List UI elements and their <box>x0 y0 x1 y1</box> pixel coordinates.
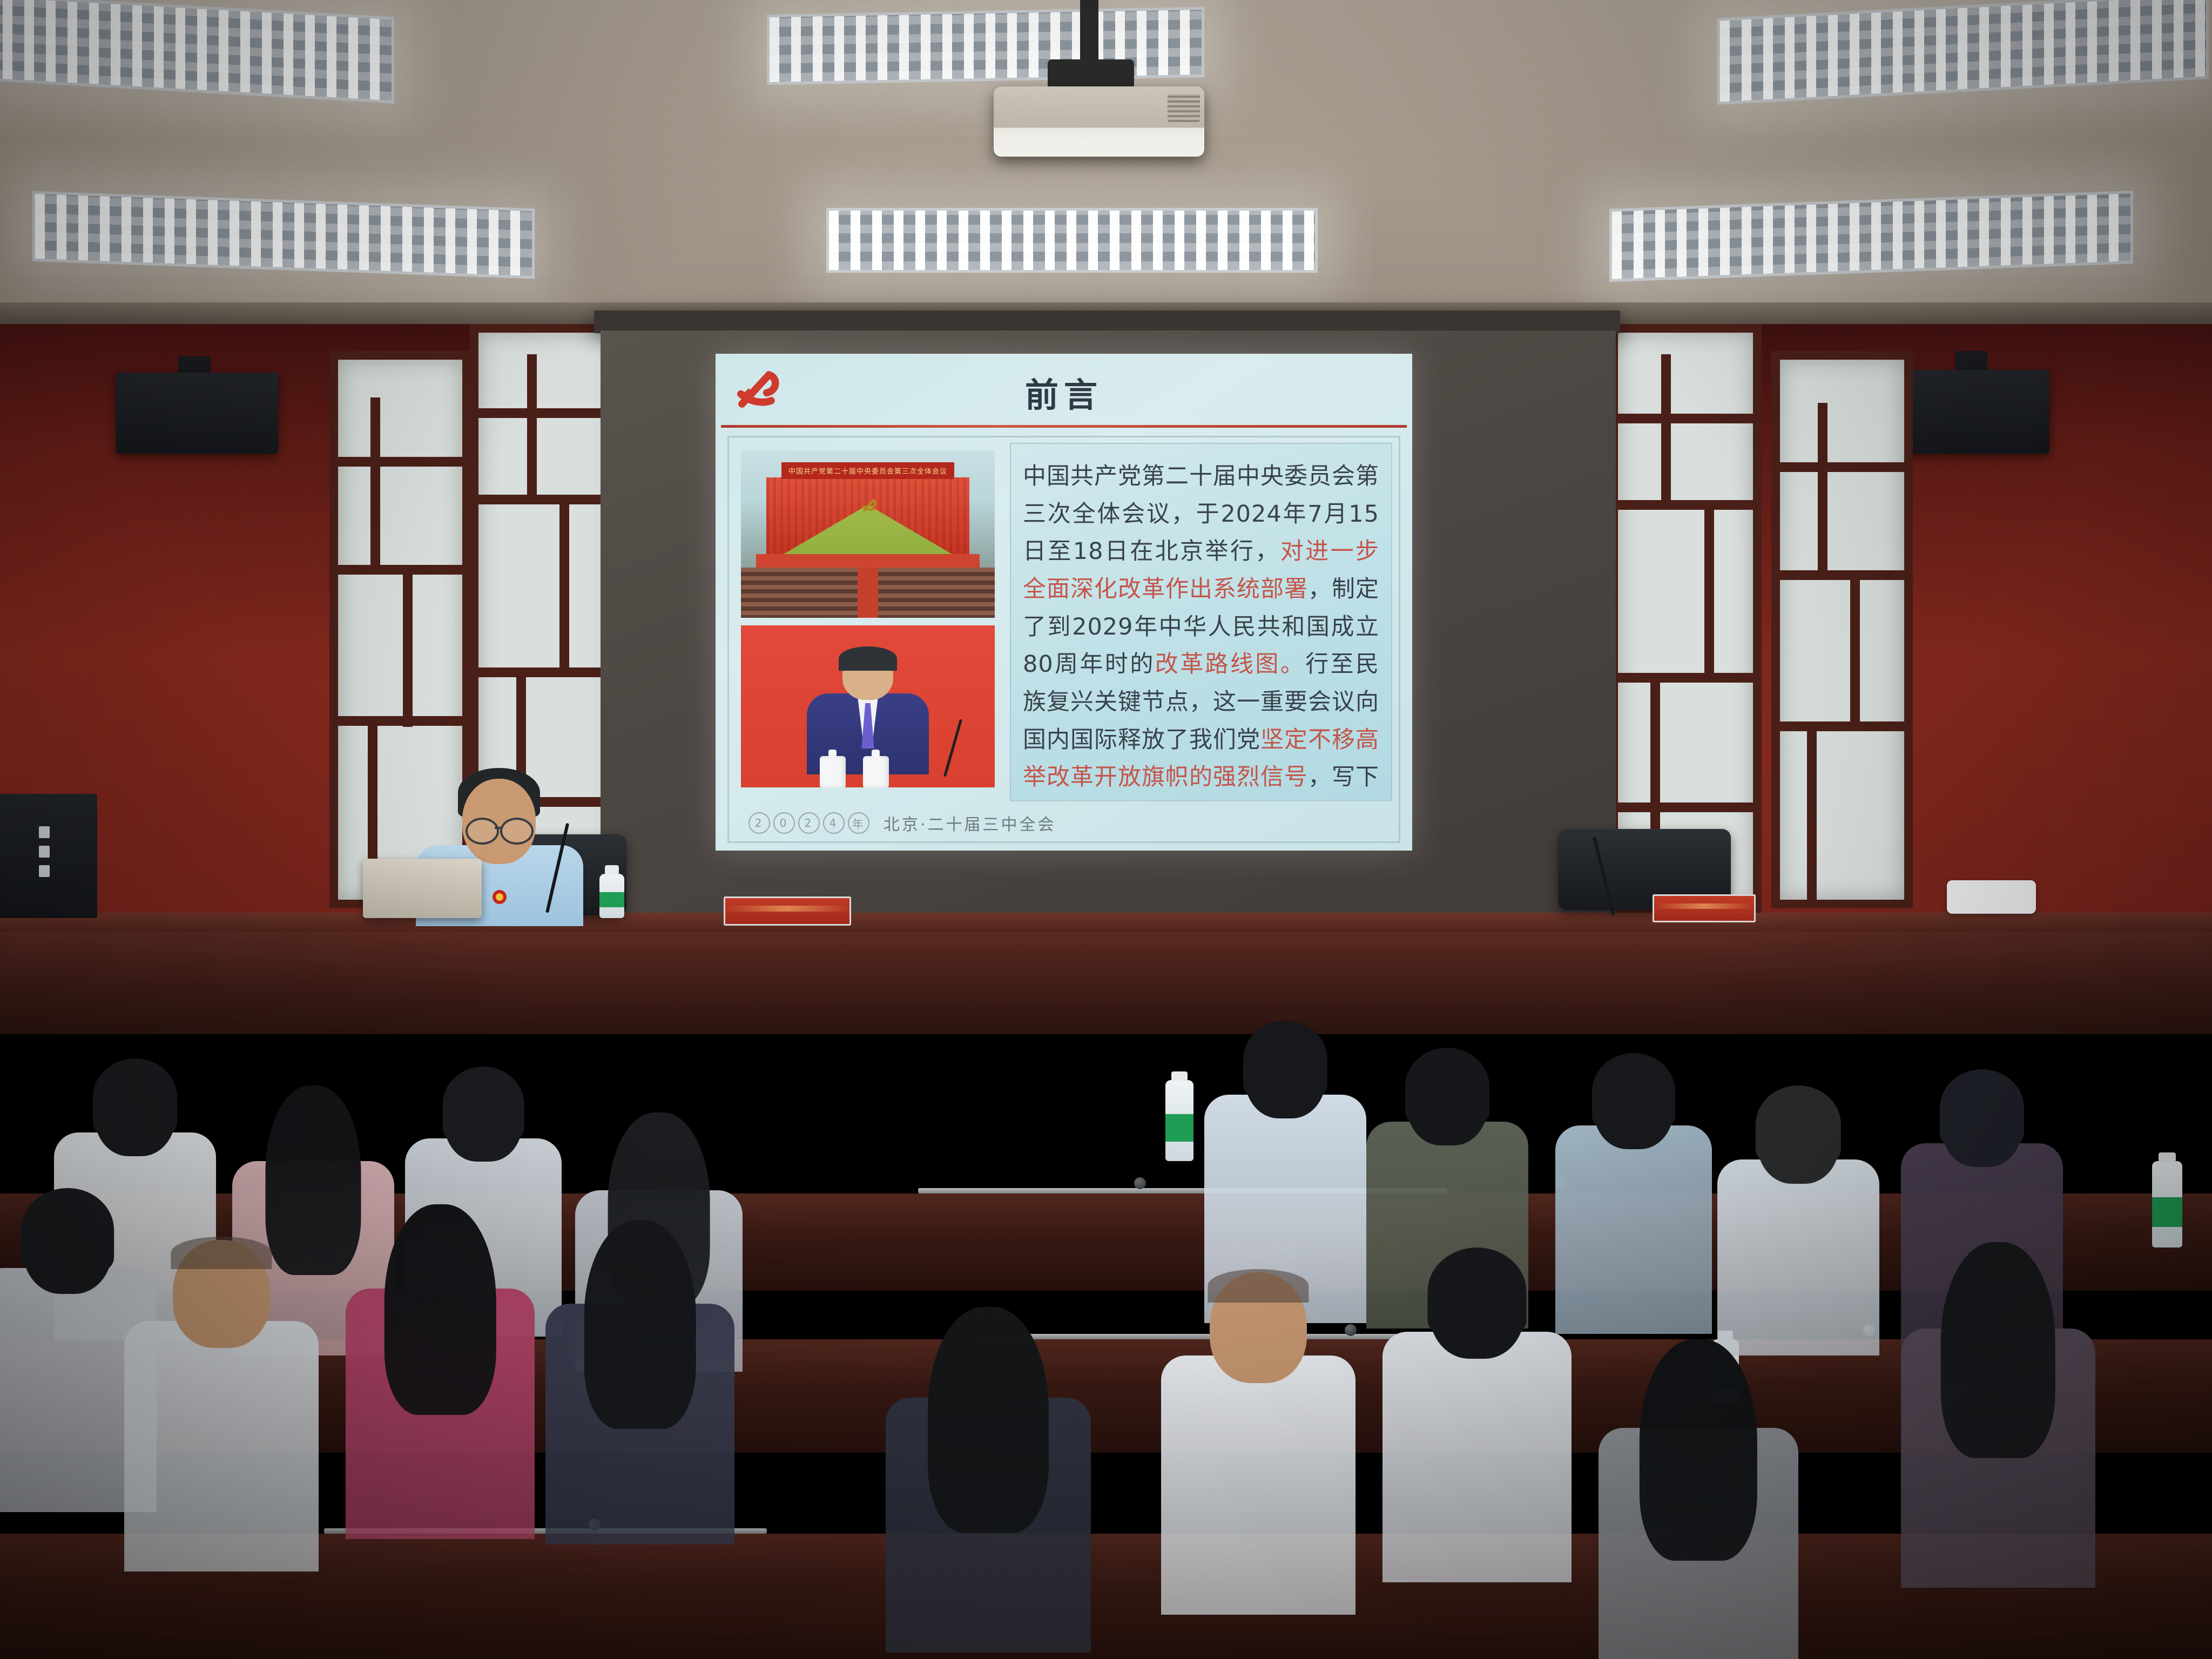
av-equipment-rack <box>0 794 97 918</box>
slide-title: 前言 <box>716 368 1412 416</box>
presenter-glasses-left <box>466 818 499 845</box>
audience-person-hair <box>928 1307 1049 1533</box>
plenum-banner-text: 中国共产党第二十届中央委员会第三次全体会议 <box>781 462 954 479</box>
audience-person <box>1555 1053 1712 1334</box>
audience-person-hair <box>1756 1085 1841 1163</box>
audience-person-hair <box>171 1237 272 1269</box>
audience-person-torso <box>124 1321 319 1572</box>
audience-person-torso <box>1382 1332 1572 1582</box>
wall-speaker-left <box>116 373 278 454</box>
leader-speaking-photo <box>741 625 995 787</box>
presenter-glasses-bridge <box>495 827 501 829</box>
audience-person-torso <box>1717 1159 1879 1355</box>
text-run-highlight: 改革路线图。 <box>1155 651 1305 678</box>
audience-person <box>1382 1247 1572 1582</box>
audience-person-hair <box>1941 1242 2055 1458</box>
caption-year-badges: 2 0 2 4 年 <box>748 812 869 834</box>
audience-person <box>545 1220 734 1545</box>
caption-digit: 0 <box>773 812 795 834</box>
audience-person <box>124 1237 319 1572</box>
audience-person <box>886 1307 1091 1653</box>
audience-person-hair <box>1405 1048 1489 1125</box>
front-desk <box>0 932 2212 1034</box>
ceiling-projector <box>994 86 1204 157</box>
audience-person <box>1161 1269 1355 1615</box>
audience-bench-row <box>0 1534 2212 1659</box>
presenter-nameplate <box>724 896 851 926</box>
audience-person-hair <box>584 1220 696 1429</box>
presenter-water-bottle <box>599 874 624 918</box>
meeting-room-scene: 前言 中国共产党第二十届中央委员 <box>0 0 2212 1659</box>
caption-digit: 2 <box>748 812 770 834</box>
audience-person <box>1717 1085 1879 1355</box>
tissue-pack <box>1947 880 2036 914</box>
audience-person-hair <box>93 1058 177 1136</box>
great-hall-plenum-photo: 中国共产党第二十届中央委员会第三次全体会议 <box>741 450 995 618</box>
slide-caption: 2 0 2 4 年 北京·二十届三中全会 <box>748 811 1056 835</box>
presenter-glasses-right <box>500 818 534 845</box>
audience-person-hair <box>385 1204 496 1415</box>
recessed-troffer-light <box>767 7 1204 85</box>
caption-digit: 2 <box>798 812 820 834</box>
screen-valance <box>594 311 1620 333</box>
audience-bench-row <box>0 1339 2212 1453</box>
audience-person-hair <box>443 1067 524 1142</box>
audience-person <box>1901 1242 2095 1588</box>
audience-person-hair <box>1640 1339 1757 1561</box>
audience-person-torso <box>1161 1355 1355 1615</box>
audience-water-bottle <box>2152 1161 2182 1247</box>
speaker-bracket-right <box>1955 351 1987 373</box>
slide-title-rule <box>721 425 1407 428</box>
slide-body-text: 中国共产党第二十届中央委员会第三次全体会议，于2024年7月15日至18日在北京… <box>1010 443 1392 801</box>
audience-person-hair <box>1592 1053 1675 1129</box>
presentation-slide: 前言 中国共产党第二十届中央委员 <box>716 354 1412 851</box>
presenter-laptop <box>363 859 482 918</box>
recessed-troffer-light <box>826 208 1318 273</box>
audience-person <box>346 1204 535 1539</box>
audience-person-hair <box>1208 1269 1309 1303</box>
photo-cpc-emblem-icon <box>860 496 879 514</box>
caption-digit: 年 <box>848 812 869 834</box>
audience-person-hair <box>1427 1247 1526 1336</box>
audience-person-hair <box>1243 1021 1327 1098</box>
audience-person-hair <box>1940 1069 2024 1147</box>
bench-knob <box>1134 1177 1146 1189</box>
audience-water-bottle <box>1165 1080 1193 1161</box>
audience-person-hair <box>21 1188 114 1272</box>
decorative-lattice-panel <box>1609 324 1762 914</box>
right-podium-nameplate <box>1653 894 1756 922</box>
caption-digit: 4 <box>823 812 845 834</box>
decorative-lattice-panel <box>1771 351 1913 908</box>
audience-person <box>1599 1339 1798 1659</box>
projector-mount-rod <box>1080 0 1098 65</box>
caption-text: 北京·二十届三中全会 <box>884 811 1056 835</box>
party-lapel-badge <box>493 890 507 904</box>
slide-title-bar: 前言 <box>716 354 1412 425</box>
slide-body: 中国共产党第二十届中央委员会第三次全体会议 中国共产党第二十届中央委员会第三次全 <box>727 436 1400 843</box>
audience-person-torso <box>1555 1125 1712 1334</box>
